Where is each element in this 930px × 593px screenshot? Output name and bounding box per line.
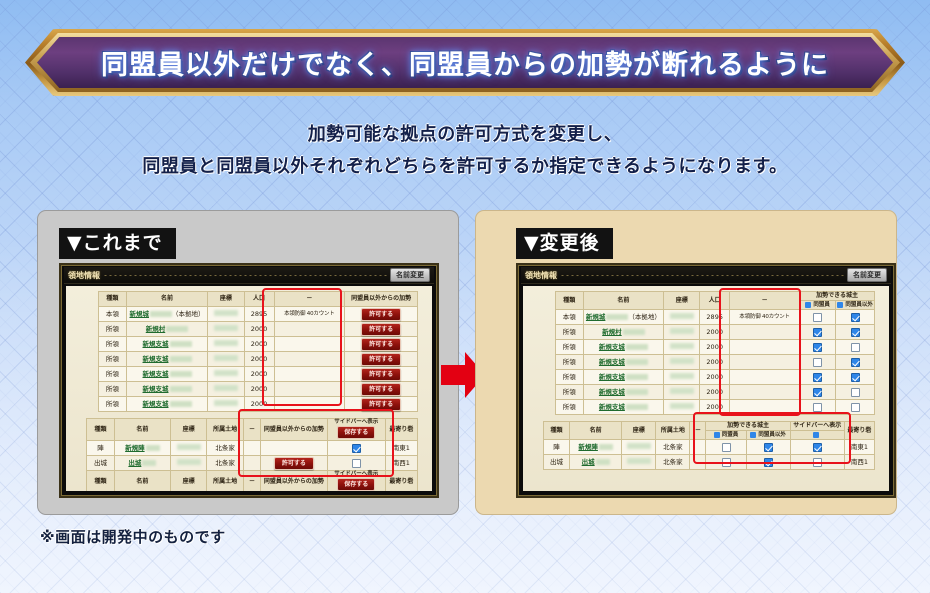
th-type: 種類 bbox=[544, 422, 570, 440]
before-panel-tag: ▼これまで bbox=[59, 228, 176, 259]
th-coord: 座標 bbox=[208, 292, 244, 307]
cell-ally-checkbox[interactable] bbox=[800, 340, 836, 355]
cell-misc bbox=[730, 385, 800, 400]
cell-non-ally-checkbox[interactable] bbox=[836, 400, 875, 415]
th-name: 名前 bbox=[114, 419, 170, 441]
permit-button[interactable]: 許可する bbox=[361, 383, 401, 396]
cell-name: 新規支城 bbox=[583, 355, 664, 370]
permit-button[interactable]: 許可する bbox=[361, 308, 401, 321]
masked-coord bbox=[670, 388, 694, 394]
masked-text bbox=[626, 374, 648, 380]
tf-type: 種類 bbox=[87, 471, 115, 492]
table-row: 出城出城北条家許可する南西1 bbox=[87, 456, 418, 471]
cell-coord bbox=[664, 400, 700, 415]
cell-population: 2000 bbox=[700, 400, 730, 415]
table-row: 所領新規支城2000許可する bbox=[99, 367, 418, 382]
cell-permit[interactable] bbox=[261, 441, 328, 456]
tf-non-ally-support: 同盟員以外からの加勢 bbox=[261, 471, 328, 492]
th-ally: 同盟員 bbox=[800, 301, 836, 310]
cell-misc bbox=[274, 322, 345, 337]
cell-type: 所領 bbox=[99, 397, 127, 412]
cell-dash bbox=[243, 441, 260, 456]
checkbox-icon[interactable] bbox=[851, 358, 860, 367]
masked-coord bbox=[214, 355, 238, 361]
base-link[interactable]: 新規陣 bbox=[125, 444, 145, 452]
cell-non-ally-checkbox[interactable] bbox=[836, 385, 875, 400]
masked-text bbox=[623, 329, 645, 335]
th-name: 名前 bbox=[570, 422, 622, 440]
sidebar-display-label: サイドバーへ表示 bbox=[328, 419, 385, 426]
sidebar-display-label: サイドバーへ表示 bbox=[328, 471, 385, 478]
cell-coord bbox=[622, 455, 656, 470]
cell-population: 2000 bbox=[244, 322, 274, 337]
cell-coord bbox=[170, 456, 207, 471]
th-non-ally-support: 同盟員以外からの加勢 bbox=[261, 419, 328, 441]
masked-coord bbox=[214, 310, 238, 316]
before-screen-body: 種類 名前 座標 人口 － 同盟員以外からの加勢 本領新規城（本拠地）2895本… bbox=[66, 286, 432, 491]
cell-coord bbox=[170, 441, 207, 456]
table-header-row: 種類 名前 座標 人口 － 加勢できる城主 bbox=[556, 292, 875, 301]
cell-population: 2000 bbox=[244, 397, 274, 412]
checkbox-icon[interactable] bbox=[851, 328, 860, 337]
after-screen-body: 種類 名前 座標 人口 － 加勢できる城主 同盟員 同 bbox=[523, 286, 889, 491]
table-row: 所領新規支城2000 bbox=[556, 340, 875, 355]
cell-permit[interactable]: 許可する bbox=[345, 352, 418, 367]
sidebar-marker-icon bbox=[813, 432, 819, 438]
after-panel: ▼変更後 領地情報 名前変更 種類 名前 座標 人口 － 加 bbox=[475, 210, 897, 515]
cell-coord bbox=[664, 325, 700, 340]
cell-type: 所領 bbox=[556, 355, 584, 370]
masked-text bbox=[150, 311, 172, 317]
cell-ally-checkbox[interactable] bbox=[800, 310, 836, 325]
development-note: ※画面は開発中のものです bbox=[40, 526, 226, 547]
cell-coord bbox=[208, 352, 244, 367]
base-link[interactable]: 出城 bbox=[582, 458, 595, 466]
permit-button[interactable]: 許可する bbox=[361, 338, 401, 351]
cell-type: 所領 bbox=[556, 325, 584, 340]
cell-land: 北条家 bbox=[207, 456, 244, 471]
th-ally-label: 同盟員 bbox=[813, 302, 830, 308]
table-row: 所領新規支城2000 bbox=[556, 355, 875, 370]
permit-button[interactable]: 許可する bbox=[274, 457, 314, 470]
territory-link[interactable]: 新規支城 bbox=[599, 358, 625, 366]
masked-coord bbox=[670, 313, 694, 319]
th-dash: － bbox=[690, 422, 706, 440]
th-pop: 人口 bbox=[244, 292, 274, 307]
table-header-row: 種類 名前 座標 所属土地 － 加勢できる城主 サイドバーへ表示 最寄り砦 bbox=[544, 422, 875, 431]
table-row: 陣新規陣北条家南東1 bbox=[544, 440, 875, 455]
cell-coord bbox=[664, 355, 700, 370]
th-non-ally: 同盟員以外 bbox=[746, 431, 790, 440]
cell-land: 北条家 bbox=[656, 440, 690, 455]
cell-sidebar-checkbox[interactable] bbox=[327, 441, 385, 456]
cell-type: 出城 bbox=[544, 455, 570, 470]
cell-non-ally-checkbox[interactable] bbox=[746, 455, 790, 470]
cell-name: 新規支城 bbox=[583, 400, 664, 415]
checkbox-icon[interactable] bbox=[722, 443, 731, 452]
cell-type: 陣 bbox=[87, 441, 115, 456]
tf-nearest-fort: 最寄り砦 bbox=[385, 471, 417, 492]
masked-coord bbox=[214, 325, 238, 331]
table-row: 所領新規支城2000許可する bbox=[99, 397, 418, 412]
masked-text bbox=[626, 344, 648, 350]
cell-coord bbox=[664, 310, 700, 325]
cell-population: 2000 bbox=[700, 340, 730, 355]
th-support-group: 加勢できる城主 bbox=[800, 292, 875, 301]
th-sidebar-display: サイドバーへ表示 保存する bbox=[327, 419, 385, 441]
cell-name: 出城 bbox=[114, 456, 170, 471]
checkbox-icon[interactable] bbox=[851, 403, 860, 412]
cell-sidebar-checkbox[interactable] bbox=[327, 456, 385, 471]
checkbox-icon[interactable] bbox=[813, 328, 822, 337]
ally-marker-icon bbox=[805, 302, 811, 308]
cell-population: 2895 bbox=[244, 307, 274, 322]
checkbox-icon[interactable] bbox=[764, 443, 773, 452]
title-banner: 同盟員以外だけでなく、同盟員からの加勢が断れるように bbox=[25, 29, 905, 96]
th-type: 種類 bbox=[556, 292, 584, 310]
after-screen-title: 領地情報 bbox=[525, 270, 557, 281]
masked-text bbox=[170, 356, 192, 362]
masked-text bbox=[170, 386, 192, 392]
cell-name: 新規支城 bbox=[126, 397, 207, 412]
territory-link[interactable]: 新規村 bbox=[602, 328, 622, 336]
before-rename-button[interactable]: 名前変更 bbox=[390, 268, 430, 282]
masked-coord bbox=[670, 343, 694, 349]
checkbox-icon[interactable] bbox=[813, 443, 822, 452]
cell-name: 新規陣 bbox=[114, 441, 170, 456]
th-support-group: 加勢できる城主 bbox=[706, 422, 790, 431]
checkbox-icon[interactable] bbox=[813, 403, 822, 412]
cell-coord bbox=[664, 370, 700, 385]
non-ally-marker-icon bbox=[750, 432, 756, 438]
cell-coord bbox=[664, 340, 700, 355]
cell-permit[interactable]: 許可する bbox=[345, 337, 418, 352]
header-dot-divider bbox=[560, 275, 844, 276]
checkbox-icon[interactable] bbox=[813, 343, 822, 352]
subheadline-line2: 同盟員と同盟員以外それぞれどちらを許可するか指定できるようになります。 bbox=[0, 150, 930, 184]
table-row: 所領新規支城2000許可する bbox=[99, 337, 418, 352]
masked-text bbox=[170, 341, 192, 347]
territory-link[interactable]: 新規支城 bbox=[143, 370, 169, 378]
cell-name: 新規村 bbox=[126, 322, 207, 337]
after-base-table: 種類 名前 座標 所属土地 － 加勢できる城主 サイドバーへ表示 最寄り砦 同盟… bbox=[543, 421, 875, 470]
checkbox-icon[interactable] bbox=[851, 388, 860, 397]
table-row: 所領新規支城2000 bbox=[556, 400, 875, 415]
cell-ally-checkbox[interactable] bbox=[706, 455, 746, 470]
checkbox-icon[interactable] bbox=[813, 313, 822, 322]
cell-coord bbox=[208, 322, 244, 337]
tf-dash: － bbox=[243, 471, 260, 492]
sidebar-save-button[interactable]: 保存する bbox=[337, 478, 375, 491]
th-coord: 座標 bbox=[622, 422, 656, 440]
th-misc: － bbox=[274, 292, 345, 307]
before-screen-header: 領地情報 名前変更 bbox=[64, 267, 434, 284]
table-header-row: 種類 名前 座標 人口 － 同盟員以外からの加勢 bbox=[99, 292, 418, 307]
cell-coord bbox=[664, 385, 700, 400]
cell-sidebar-checkbox[interactable] bbox=[790, 455, 844, 470]
territory-link[interactable]: 新規支城 bbox=[599, 388, 625, 396]
cell-fort: 南西1 bbox=[844, 455, 874, 470]
checkbox-icon[interactable] bbox=[813, 358, 822, 367]
banner-title-text: 同盟員以外だけでなく、同盟員からの加勢が断れるように bbox=[101, 43, 829, 82]
table-row: 本領新規城（本拠地）2895本領防御 40カウント許可する bbox=[99, 307, 418, 322]
base-link[interactable]: 出城 bbox=[128, 459, 141, 467]
cell-misc bbox=[274, 382, 345, 397]
masked-coord bbox=[670, 373, 694, 379]
masked-text bbox=[166, 326, 188, 332]
tf-sidebar-display: サイドバーへ表示保存する bbox=[327, 471, 385, 492]
before-panel: ▼これまで 領地情報 名前変更 種類 名前 座標 人口 － bbox=[37, 210, 459, 515]
cell-misc: 本領防御 40カウント bbox=[274, 307, 345, 322]
masked-coord bbox=[627, 443, 651, 449]
masked-coord bbox=[627, 458, 651, 464]
cell-misc bbox=[274, 367, 345, 382]
cell-type: 本領 bbox=[99, 307, 127, 322]
territory-link[interactable]: 新規支城 bbox=[599, 343, 625, 351]
before-game-screen: 領地情報 名前変更 種類 名前 座標 人口 － 同盟員以外からの加勢 bbox=[59, 263, 439, 498]
cell-ally-checkbox[interactable] bbox=[800, 370, 836, 385]
cell-name: 新規支城 bbox=[126, 337, 207, 352]
tf-coord: 座標 bbox=[170, 471, 207, 492]
masked-text bbox=[170, 401, 192, 407]
th-sidebar-marker bbox=[790, 431, 844, 440]
cell-misc bbox=[730, 355, 800, 370]
misc-text: 本領防御 40カウント bbox=[739, 314, 790, 320]
cell-land: 北条家 bbox=[207, 441, 244, 456]
checkbox-icon[interactable] bbox=[813, 388, 822, 397]
after-rename-button[interactable]: 名前変更 bbox=[847, 268, 887, 282]
cell-population: 2000 bbox=[700, 325, 730, 340]
th-coord: 座標 bbox=[170, 419, 207, 441]
cell-type: 所領 bbox=[556, 385, 584, 400]
territory-link[interactable]: 新規支城 bbox=[599, 373, 625, 381]
cell-type: 所領 bbox=[99, 352, 127, 367]
table-row: 所領新規支城2000 bbox=[556, 385, 875, 400]
masked-coord bbox=[670, 328, 694, 334]
cell-sidebar-checkbox[interactable] bbox=[790, 440, 844, 455]
cell-misc bbox=[730, 325, 800, 340]
checkbox-icon[interactable] bbox=[764, 458, 773, 467]
cell-dash bbox=[243, 456, 260, 471]
cell-name: 新規村 bbox=[583, 325, 664, 340]
cell-coord bbox=[208, 367, 244, 382]
territory-link[interactable]: 新規支城 bbox=[143, 340, 169, 348]
th-ally: 同盟員 bbox=[706, 431, 746, 440]
cell-ally-checkbox[interactable] bbox=[800, 400, 836, 415]
th-nearest-fort: 最寄り砦 bbox=[385, 419, 417, 441]
permit-button[interactable]: 許可する bbox=[361, 368, 401, 381]
cell-misc: 本領防御 40カウント bbox=[730, 310, 800, 325]
th-misc: － bbox=[730, 292, 800, 310]
checkbox-icon[interactable] bbox=[813, 373, 822, 382]
cell-misc bbox=[274, 352, 345, 367]
cell-dash bbox=[690, 440, 706, 455]
permit-button[interactable]: 許可する bbox=[361, 323, 401, 336]
cell-population: 2000 bbox=[700, 355, 730, 370]
cell-name: 新規支城 bbox=[583, 370, 664, 385]
th-sidebar-display: サイドバーへ表示 bbox=[790, 422, 844, 431]
cell-non-ally-checkbox[interactable] bbox=[836, 310, 875, 325]
th-name: 名前 bbox=[583, 292, 664, 310]
th-non-ally-label: 同盟員以外 bbox=[845, 302, 873, 308]
th-non-ally-label: 同盟員以外 bbox=[758, 432, 786, 438]
masked-coord bbox=[214, 340, 238, 346]
checkbox-icon[interactable] bbox=[352, 444, 361, 453]
tf-land: 所属土地 bbox=[207, 471, 244, 492]
cell-ally-checkbox[interactable] bbox=[706, 440, 746, 455]
cell-non-ally-checkbox[interactable] bbox=[746, 440, 790, 455]
cell-type: 所領 bbox=[99, 382, 127, 397]
cell-name: 新規城（本拠地） bbox=[583, 310, 664, 325]
cell-dash bbox=[690, 455, 706, 470]
cell-population: 2000 bbox=[244, 352, 274, 367]
tf-name: 名前 bbox=[114, 471, 170, 492]
after-territory-table: 種類 名前 座標 人口 － 加勢できる城主 同盟員 同 bbox=[555, 291, 875, 415]
cell-fort: 南西1 bbox=[385, 456, 417, 471]
table-header-row: 種類 名前 座標 所属土地 － 同盟員以外からの加勢 サイドバーへ表示 保存する… bbox=[87, 419, 418, 441]
permit-button[interactable]: 許可する bbox=[361, 353, 401, 366]
checkbox-icon[interactable] bbox=[851, 313, 860, 322]
masked-coord bbox=[214, 370, 238, 376]
th-coord: 座標 bbox=[664, 292, 700, 310]
territory-link[interactable]: 新規城 bbox=[586, 313, 606, 321]
cell-coord bbox=[208, 397, 244, 412]
territory-link[interactable]: 新規支城 bbox=[143, 400, 169, 408]
cell-land: 北条家 bbox=[656, 455, 690, 470]
cell-permit[interactable]: 許可する bbox=[345, 322, 418, 337]
cell-permit[interactable]: 許可する bbox=[345, 367, 418, 382]
table-row: 陣新規陣北条家南東1 bbox=[87, 441, 418, 456]
before-screen-title: 領地情報 bbox=[68, 270, 100, 281]
cell-type: 所領 bbox=[99, 367, 127, 382]
subheadline: 加勢可能な拠点の許可方式を変更し、 同盟員と同盟員以外それぞれどちらを許可するか… bbox=[0, 120, 930, 184]
territory-link[interactable]: 新規支城 bbox=[143, 385, 169, 393]
cell-type: 所領 bbox=[556, 340, 584, 355]
after-screen-header: 領地情報 名前変更 bbox=[521, 267, 891, 284]
masked-coord bbox=[177, 459, 201, 465]
cell-non-ally-checkbox[interactable] bbox=[836, 340, 875, 355]
th-type: 種類 bbox=[87, 419, 115, 441]
masked-coord bbox=[670, 358, 694, 364]
table-row: 所領新規支城2000 bbox=[556, 370, 875, 385]
checkbox-icon[interactable] bbox=[352, 459, 361, 468]
cell-permit[interactable]: 許可する bbox=[345, 397, 418, 412]
masked-text bbox=[626, 359, 648, 365]
cell-permit[interactable]: 許可する bbox=[345, 382, 418, 397]
masked-text bbox=[596, 459, 610, 465]
th-non-ally-support: 同盟員以外からの加勢 bbox=[345, 292, 418, 307]
after-game-screen: 領地情報 名前変更 種類 名前 座標 人口 － 加勢できる城主 bbox=[516, 263, 896, 498]
table-row: 出城出城北条家南西1 bbox=[544, 455, 875, 470]
subheadline-line1: 加勢可能な拠点の許可方式を変更し、 bbox=[0, 120, 930, 150]
masked-text bbox=[170, 371, 192, 377]
before-base-table: 種類 名前 座標 所属土地 － 同盟員以外からの加勢 サイドバーへ表示 保存する… bbox=[86, 418, 418, 491]
cell-coord bbox=[208, 382, 244, 397]
checkbox-icon[interactable] bbox=[851, 373, 860, 382]
cell-population: 2000 bbox=[700, 370, 730, 385]
masked-text bbox=[626, 389, 648, 395]
checkbox-icon[interactable] bbox=[851, 343, 860, 352]
cell-permit[interactable]: 許可する bbox=[261, 456, 328, 471]
cell-population: 2000 bbox=[244, 382, 274, 397]
checkbox-icon[interactable] bbox=[722, 458, 731, 467]
table-row: 所領新規村2000 bbox=[556, 325, 875, 340]
cell-type: 所領 bbox=[99, 322, 127, 337]
misc-text: 本領防御 40カウント bbox=[284, 311, 335, 317]
th-ally-label: 同盟員 bbox=[722, 432, 739, 438]
cell-coord bbox=[622, 440, 656, 455]
cell-non-ally-checkbox[interactable] bbox=[836, 325, 875, 340]
header-dot-divider bbox=[103, 275, 387, 276]
th-type: 種類 bbox=[99, 292, 127, 307]
masked-coord bbox=[214, 385, 238, 391]
ally-marker-icon bbox=[714, 432, 720, 438]
cell-ally-checkbox[interactable] bbox=[800, 325, 836, 340]
cell-misc bbox=[730, 370, 800, 385]
cell-name: 出城 bbox=[570, 455, 622, 470]
cell-type: 本領 bbox=[556, 310, 584, 325]
th-pop: 人口 bbox=[700, 292, 730, 310]
cell-misc bbox=[730, 340, 800, 355]
masked-text bbox=[606, 314, 628, 320]
table-row: 所領新規村2000許可する bbox=[99, 322, 418, 337]
cell-fort: 南東1 bbox=[844, 440, 874, 455]
cell-name: 新規支城 bbox=[126, 367, 207, 382]
cell-population: 2000 bbox=[700, 385, 730, 400]
table-row: 所領新規支城2000許可する bbox=[99, 382, 418, 397]
cell-population: 2000 bbox=[244, 367, 274, 382]
cell-permit[interactable]: 許可する bbox=[345, 307, 418, 322]
masked-coord bbox=[670, 403, 694, 409]
cell-name: 新規支城 bbox=[126, 382, 207, 397]
table-row: 本領新規城（本拠地）2895本領防御 40カウント bbox=[556, 310, 875, 325]
cell-ally-checkbox[interactable] bbox=[800, 385, 836, 400]
cell-ally-checkbox[interactable] bbox=[800, 355, 836, 370]
territory-link[interactable]: 新規支城 bbox=[599, 403, 625, 411]
cell-type: 出城 bbox=[87, 456, 115, 471]
territory-link[interactable]: 新規支城 bbox=[143, 355, 169, 363]
cell-non-ally-checkbox[interactable] bbox=[836, 370, 875, 385]
checkbox-icon[interactable] bbox=[813, 458, 822, 467]
after-panel-tag: ▼変更後 bbox=[516, 228, 613, 259]
masked-coord bbox=[177, 444, 201, 450]
th-name: 名前 bbox=[126, 292, 207, 307]
cell-non-ally-checkbox[interactable] bbox=[836, 355, 875, 370]
cell-coord bbox=[208, 307, 244, 322]
permit-button[interactable]: 許可する bbox=[361, 398, 401, 411]
territory-link[interactable]: 新規城 bbox=[130, 310, 150, 318]
sidebar-save-button[interactable]: 保存する bbox=[337, 426, 375, 439]
cell-misc bbox=[730, 400, 800, 415]
masked-text bbox=[626, 404, 648, 410]
th-non-ally: 同盟員以外 bbox=[836, 301, 875, 310]
cell-type: 所領 bbox=[556, 370, 584, 385]
cell-name: 新規支城 bbox=[583, 385, 664, 400]
masked-text bbox=[146, 445, 160, 451]
cell-misc bbox=[274, 397, 345, 412]
cell-type: 所領 bbox=[556, 400, 584, 415]
cell-population: 2000 bbox=[244, 337, 274, 352]
cell-misc bbox=[274, 337, 345, 352]
masked-text bbox=[142, 460, 156, 466]
th-land: 所属土地 bbox=[656, 422, 690, 440]
table-footer-row: 種類名前座標所属土地－同盟員以外からの加勢サイドバーへ表示保存する最寄り砦 bbox=[87, 471, 418, 492]
base-link[interactable]: 新規陣 bbox=[578, 443, 598, 451]
table-row: 所領新規支城2000許可する bbox=[99, 352, 418, 367]
cell-coord bbox=[208, 337, 244, 352]
banner-inner-plate: 同盟員以外だけでなく、同盟員からの加勢が断れるように bbox=[37, 37, 893, 88]
territory-link[interactable]: 新規村 bbox=[146, 325, 166, 333]
